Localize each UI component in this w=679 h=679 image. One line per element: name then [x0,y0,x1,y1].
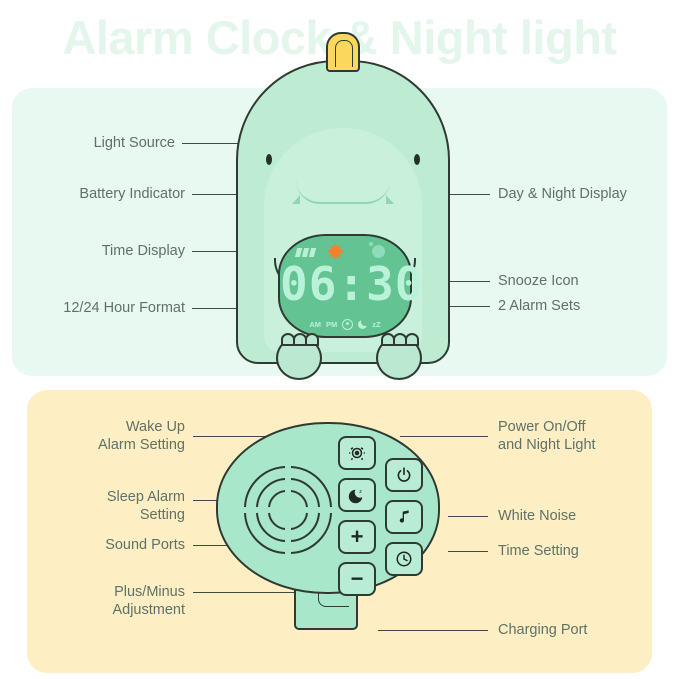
sleep-button[interactable]: z [338,478,376,512]
label-battery-indicator: Battery Indicator [20,185,185,203]
alarm-clock-back-illustration: z + − [216,422,466,652]
snooze-indicator: zZ [372,320,380,329]
alarm-button[interactable] [338,436,376,470]
label-sleep-alarm-setting: Sleep Alarm Setting [20,488,185,524]
sun-icon [330,246,341,257]
power-icon [395,466,413,484]
time-digits: 06:30 [280,258,410,310]
am-indicator: AM [309,320,321,329]
minus-button[interactable]: − [338,562,376,596]
minus-icon: − [351,568,364,590]
label-time-display: Time Display [20,242,185,260]
time-setting-button[interactable] [385,542,423,576]
time-display-screen: 06:30 AM PM zZ [278,234,412,338]
clock-icon [395,550,413,568]
music-note-icon [396,508,412,526]
infographic-canvas: Alarm Clock & Night light Light Source B… [0,0,679,679]
plus-button[interactable]: + [338,520,376,554]
svg-text:z: z [359,489,362,495]
alarm-ring-icon [342,319,353,330]
foot-right [376,336,422,380]
foot-left [276,336,322,380]
label-time-setting: Time Setting [498,542,673,560]
label-hour-format: 12/24 Hour Format [12,299,185,317]
moon-zzz-icon: z [348,486,366,504]
alarm-clock-front-illustration: 06:30 AM PM zZ [228,28,454,368]
label-snooze-icon: Snooze Icon [498,272,668,290]
label-plus-minus-adjustment: Plus/Minus Adjustment [20,583,185,619]
power-button[interactable] [385,458,423,492]
speaker-grille-icon [242,464,334,556]
eye-left-icon [266,154,272,165]
label-white-noise: White Noise [498,507,673,525]
crest-icon [326,32,360,72]
mouth-icon [296,180,390,204]
device-body: 06:30 AM PM zZ [236,60,450,364]
label-two-alarm-sets: 2 Alarm Sets [498,297,668,315]
pm-indicator: PM [326,320,337,329]
label-wake-up-alarm-setting: Wake Up Alarm Setting [20,418,185,454]
eye-right-icon [414,154,420,165]
label-charging-port: Charging Port [498,621,673,639]
label-day-night-display: Day & Night Display [498,185,678,203]
label-light-source: Light Source [20,134,175,152]
back-panel-body: z + − [216,422,440,594]
display-status-row-bottom: AM PM zZ [288,318,402,330]
label-sound-ports: Sound Ports [20,536,185,554]
alarm-clock-icon [348,444,366,462]
label-power-night-light: Power On/Off and Night Light [498,418,673,454]
plus-icon: + [351,526,364,548]
sleep-moon-icon [358,320,367,329]
battery-indicator-icon [296,248,318,257]
white-noise-button[interactable] [385,500,423,534]
